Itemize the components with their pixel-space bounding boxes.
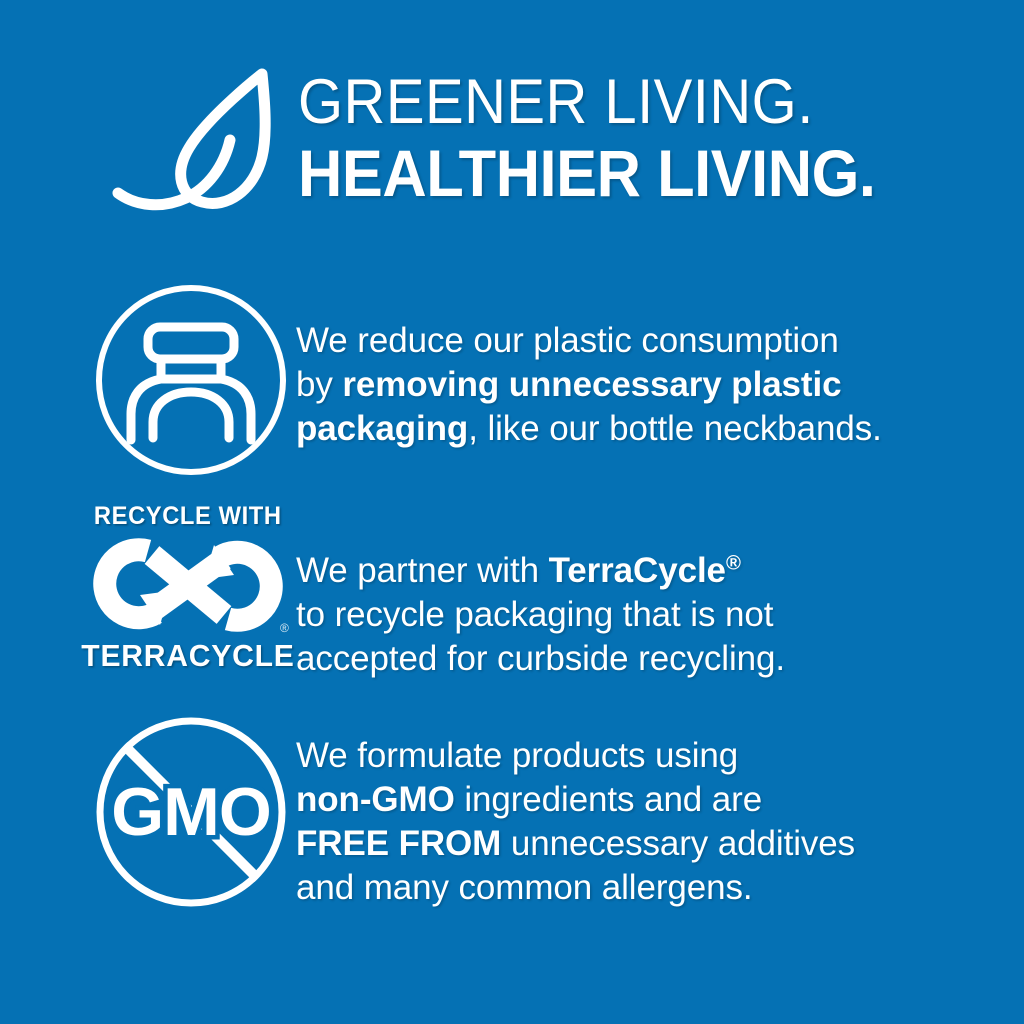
text-line-1: We reduce our plastic consumption <box>296 321 839 360</box>
text-line-2-bold: non-GMO <box>296 780 455 819</box>
text-line-2-bold: removing unnecessary plastic <box>342 365 841 404</box>
header: GREENER LIVING. HEALTHIER LIVING. <box>0 58 1024 228</box>
terracycle-logo-bottom-text: TERRACYCLE <box>81 638 294 674</box>
list-item-text: We formulate products using non-GMO ingr… <box>296 712 1024 910</box>
text-line-2-plain: ingredients and are <box>455 780 762 819</box>
list-item-text: We partner with TerraCycle® to recycle p… <box>296 502 1024 681</box>
gmo-label: GMO <box>111 774 270 850</box>
terracycle-logo: RECYCLE WITH <box>80 502 296 674</box>
text-line-2: to recycle packaging that is not <box>296 595 773 634</box>
registered-mark: ® <box>726 552 741 574</box>
text-line-3-bold: packaging <box>296 409 468 448</box>
headline-block: GREENER LIVING. HEALTHIER LIVING. <box>298 72 919 206</box>
registered-mark-small: ® <box>280 621 289 635</box>
text-line-3-plain: unnecessary additives <box>501 824 855 863</box>
text-line-3-bold: FREE FROM <box>296 824 501 863</box>
no-gmo-icon: GMO <box>0 712 296 912</box>
text-line-1-plain: We partner with <box>296 551 549 590</box>
leaf-icon <box>112 62 290 224</box>
bottle-neckband-icon <box>0 280 296 480</box>
text-line-1-bold: TerraCycle <box>549 551 726 590</box>
list-item: We reduce our plastic consumption by rem… <box>0 280 1024 502</box>
page-title-line2: HEALTHIER LIVING. <box>298 140 875 206</box>
text-line-2-plain: by <box>296 365 342 404</box>
list-item: RECYCLE WITH <box>0 502 1024 712</box>
list-item-text: We reduce our plastic consumption by rem… <box>296 280 1024 451</box>
list-item: GMO We formulate products using non-GMO … <box>0 712 1024 942</box>
page-title-line1: GREENER LIVING. <box>298 72 814 134</box>
greener-living-infographic: GREENER LIVING. HEALTHIER LIVING. <box>0 0 1024 1024</box>
infinity-recycle-mark: ® <box>82 533 294 637</box>
text-line-1: We formulate products using <box>296 736 738 775</box>
text-line-3: accepted for curbside recycling. <box>296 639 785 678</box>
feature-list: We reduce our plastic consumption by rem… <box>0 280 1024 942</box>
terracycle-recycle-icon: RECYCLE WITH <box>0 502 296 674</box>
text-line-3-plain: , like our bottle neckbands. <box>468 409 882 448</box>
terracycle-logo-top-text: RECYCLE WITH <box>94 502 282 531</box>
text-line-4: and many common allergens. <box>296 868 753 907</box>
